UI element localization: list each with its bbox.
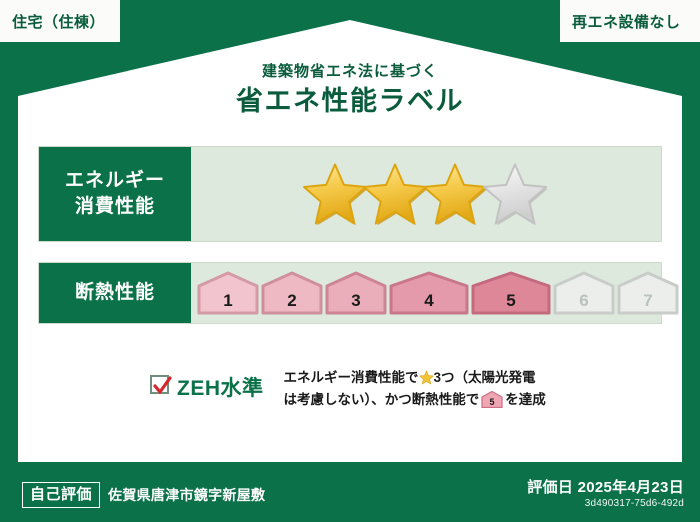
house-icon (389, 271, 469, 315)
zeh-section: ZEH水準 エネルギー消費性能で3つ（太陽光発電は考慮しない）、かつ断熱性能で5… (150, 368, 546, 413)
insulation-level-4: 4 (389, 271, 469, 315)
energy-label-line-2: 消費性能 (75, 194, 155, 220)
house-icon (197, 271, 259, 315)
house-icon (471, 271, 551, 315)
insulation-performance-value: 1234567 (191, 263, 679, 323)
self-evaluation-badge: 自己評価 (22, 482, 100, 508)
renewable-energy-tag: 再エネ設備なし (560, 0, 700, 42)
zeh-description: エネルギー消費性能で3つ（太陽光発電は考慮しない）、かつ断熱性能で5を達成 (284, 368, 546, 413)
mini-house-badge: 5 (481, 391, 503, 413)
star-filled-icon (302, 161, 368, 227)
title-subtitle: 建築物省エネ法に基づく (0, 62, 700, 82)
energy-performance-value (191, 147, 661, 241)
insulation-level-2: 2 (261, 271, 323, 315)
zeh-desc-part-3: を達成 (505, 392, 546, 407)
energy-performance-row: エネルギー 消費性能 (38, 146, 662, 242)
check-icon (151, 375, 173, 397)
house-icon (325, 271, 387, 315)
insulation-performance-row: 断熱性能 1234567 (38, 262, 662, 324)
zeh-desc-part-2: は考慮しない）、かつ断熱性能で (284, 392, 480, 407)
page-title: 省エネ性能ラベル (0, 84, 700, 118)
house-icon (553, 271, 615, 315)
footer-right: 評価日 2025年4月23日 3d490317-75d6-492d (527, 478, 684, 510)
energy-label-line-1: エネルギー (65, 168, 165, 194)
insulation-level-3: 3 (325, 271, 387, 315)
energy-performance-label: 住宅（住棟） 再エネ設備なし 建築物省エネ法に基づく 省エネ性能ラベル エネルギ… (0, 0, 700, 522)
zeh-desc-star-count: 3つ（太陽光発電 (434, 370, 536, 385)
star-filled-icon (362, 161, 428, 227)
zeh-desc-part-1: エネルギー消費性能で (284, 370, 419, 385)
zeh-title: ZEH水準 (177, 372, 264, 402)
insulation-level-scale: 1234567 (191, 271, 679, 315)
insulation-performance-label: 断熱性能 (39, 263, 191, 323)
insulation-level-1: 1 (197, 271, 259, 315)
house-icon (617, 271, 679, 315)
evaluation-id: 3d490317-75d6-492d (527, 497, 684, 510)
mini-star-icon (419, 370, 434, 390)
star-rating (302, 161, 542, 227)
insulation-level-7: 7 (617, 271, 679, 315)
address-text: 佐賀県唐津市鏡字新屋敷 (108, 485, 265, 505)
renewable-energy-tag-label: 再エネ設備なし (572, 11, 681, 32)
zeh-checkbox[interactable] (150, 375, 169, 394)
building-type-tag-label: 住宅（住棟） (12, 11, 105, 32)
svg-text:5: 5 (490, 397, 495, 407)
footer-left: 自己評価 佐賀県唐津市鏡字新屋敷 (22, 482, 265, 508)
star-empty-icon (482, 161, 548, 227)
insulation-level-6: 6 (553, 271, 615, 315)
building-type-tag: 住宅（住棟） (0, 0, 120, 42)
energy-performance-label: エネルギー 消費性能 (39, 147, 191, 241)
evaluation-date: 評価日 2025年4月23日 (527, 478, 684, 497)
insulation-label-line-1: 断熱性能 (75, 280, 155, 306)
star-filled-icon (422, 161, 488, 227)
house-icon (261, 271, 323, 315)
insulation-level-5: 5 (471, 271, 551, 315)
title-block: 建築物省エネ法に基づく 省エネ性能ラベル (0, 62, 700, 118)
